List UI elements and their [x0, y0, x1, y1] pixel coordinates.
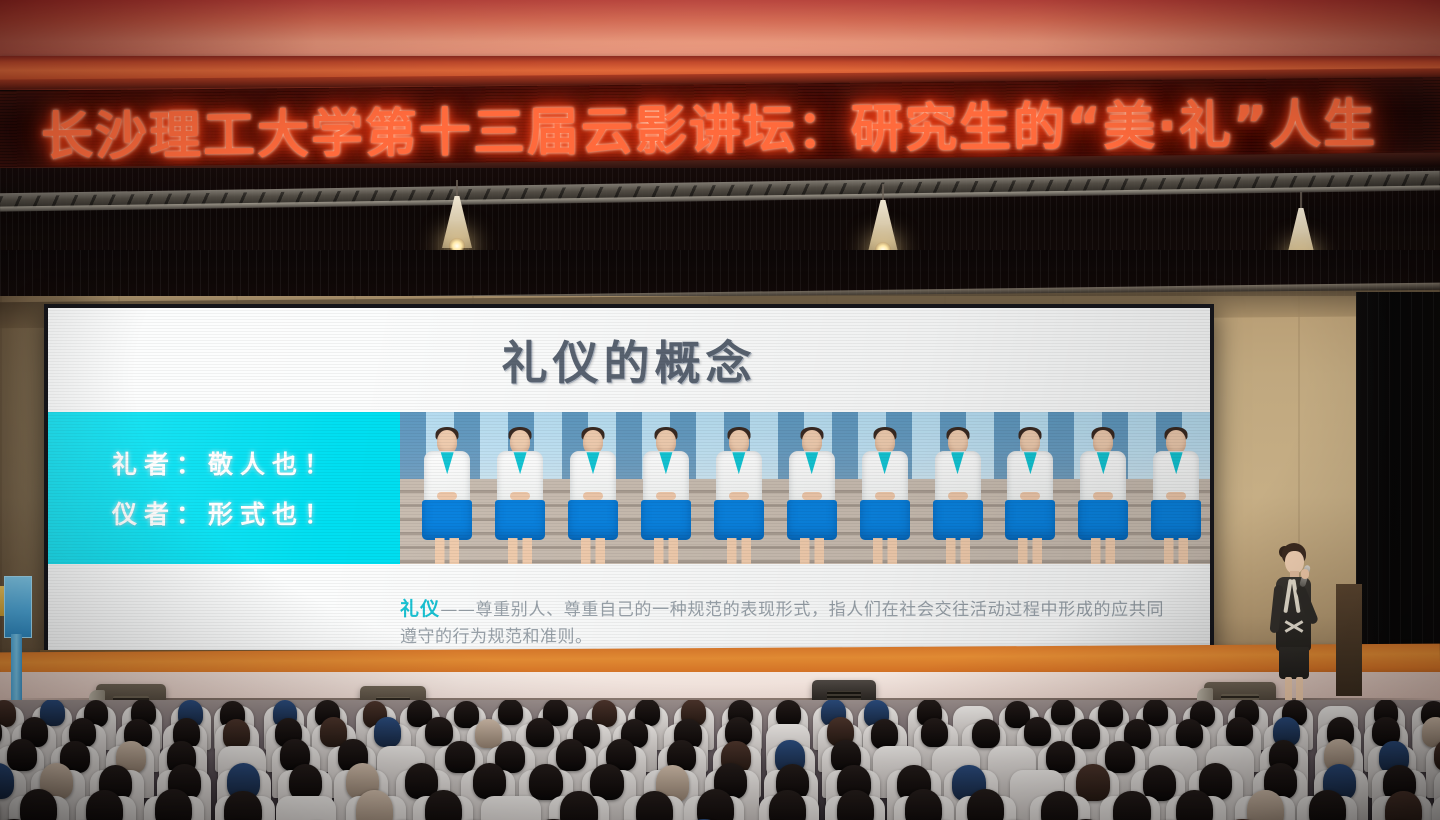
audience-person: [905, 789, 942, 820]
screen-surface: 礼仪的概念 礼者：敬人也！ 仪者：形式也！: [48, 308, 1210, 656]
etiquette-lineup-photo: [400, 412, 1210, 564]
audience-seat: [481, 796, 541, 820]
audience-person: [356, 790, 393, 820]
slide: 礼仪的概念 礼者：敬人也！ 仪者：形式也！: [48, 308, 1210, 656]
slide-body: 礼者：敬人也！ 仪者：形式也！: [48, 412, 1210, 656]
photo-person: [781, 430, 843, 564]
audience-person: [529, 764, 562, 800]
audience-person: [1105, 741, 1135, 773]
audience-area: [0, 700, 1440, 820]
photo-person: [635, 430, 697, 564]
audience-seat: [276, 796, 336, 820]
audience-person: [556, 739, 586, 771]
audience-person: [1076, 764, 1109, 800]
audience-person: [526, 718, 553, 747]
banner-pole: [11, 634, 22, 704]
definition-term: 礼仪: [400, 598, 440, 620]
audience-person: [921, 718, 948, 747]
photo-person: [708, 430, 770, 564]
audience-person: [20, 789, 57, 820]
lamp-stem: [456, 180, 458, 198]
speaker-skirt: [1279, 647, 1309, 679]
photo-person: [927, 430, 989, 564]
audience-person: [1046, 741, 1076, 773]
photo-person: [1072, 430, 1134, 564]
audience-person: [425, 717, 452, 746]
speaker-hand: [1301, 569, 1309, 579]
audience-person: [1247, 790, 1284, 820]
audience-person: [1072, 719, 1099, 748]
speaker-jacket-trim: [1284, 619, 1302, 633]
slide-title: 礼仪的概念: [502, 327, 757, 393]
photo-person: [416, 430, 478, 564]
audience-person: [0, 700, 16, 727]
photo-person: [854, 430, 916, 564]
audience-person: [871, 719, 898, 748]
audience-person: [590, 764, 623, 800]
presentation-screen[interactable]: 礼仪的概念 礼者：敬人也！ 仪者：形式也！: [44, 304, 1214, 660]
slide-cyan-quote-panel: 礼者：敬人也！ 仪者：形式也！: [48, 412, 400, 564]
audience-person: [445, 741, 475, 773]
audience-person: [224, 791, 261, 820]
audience-person: [1113, 791, 1150, 820]
audience-person: [697, 789, 734, 820]
audience-person: [223, 719, 250, 748]
audience-person: [1098, 700, 1123, 727]
audience-person: [289, 764, 322, 800]
audience-person: [155, 789, 192, 820]
cyan-quote-line-2: 仪者：形式也！: [112, 495, 336, 531]
audience-person: [636, 791, 673, 820]
audience-person: [374, 717, 401, 746]
audience-person: [967, 789, 1004, 820]
cyan-quote-line-1: 礼者：敬人也！: [112, 445, 336, 481]
audience-person: [7, 739, 37, 771]
roll-up-banner-left: [0, 576, 30, 704]
audience-person: [972, 719, 999, 748]
photo-person: [999, 430, 1061, 564]
banner-panel: [4, 576, 32, 638]
audience-person: [425, 790, 462, 820]
lamp-stem: [882, 184, 884, 202]
slide-definition-paragraph: 礼仪——尊重别人、尊重自己的一种规范的表现形式，指人们在社会交往活动过程中形成的…: [400, 595, 1164, 651]
slide-definition-zone: 礼仪——尊重别人、尊重自己的一种规范的表现形式，指人们在社会交往活动过程中形成的…: [48, 564, 1210, 656]
slide-upper-row: 礼者：敬人也！ 仪者：形式也！: [48, 412, 1210, 564]
definition-body: ——尊重别人、尊重自己的一种规范的表现形式，指人们在社会交往活动过程中形成的应共…: [400, 600, 1164, 647]
lamp-stem: [1300, 192, 1302, 210]
audience-person: [475, 719, 502, 748]
audience-person: [560, 791, 597, 820]
audience-person: [1041, 791, 1078, 820]
stage-side-block: [1336, 584, 1362, 696]
audience-person: [1226, 717, 1253, 746]
audience-person: [1024, 717, 1051, 746]
slide-title-zone: 礼仪的概念: [48, 308, 1210, 412]
audience-person: [473, 763, 506, 799]
photo-person: [1145, 430, 1207, 564]
auditorium-photo: 长沙理工大学第十三届云影讲坛：研究生的“美·礼”人生 礼仪的概念: [0, 0, 1440, 820]
photo-person: [562, 430, 624, 564]
audience-person: [1176, 719, 1203, 748]
audience-person: [1051, 700, 1076, 725]
presenter-on-stage: [1266, 543, 1320, 711]
photo-person: [489, 430, 551, 564]
audience-person: [498, 700, 523, 725]
